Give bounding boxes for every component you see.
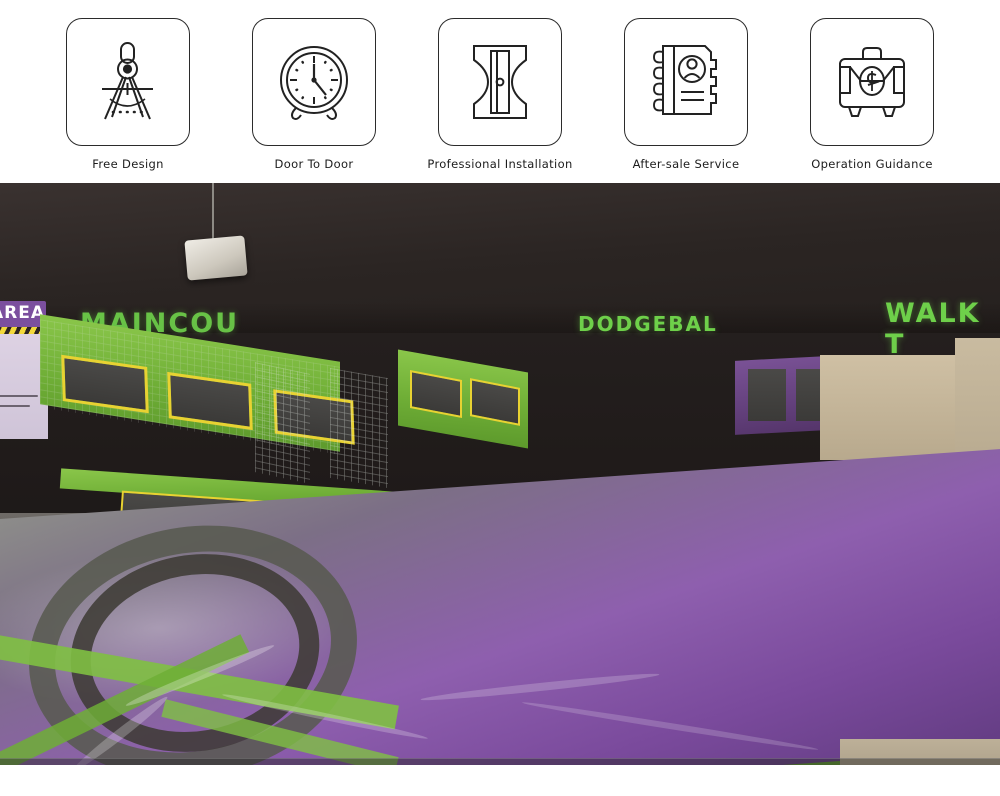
feature-item-professional-installation[interactable]: Professional Installation <box>428 18 572 171</box>
compass-icon <box>90 39 166 125</box>
ceiling-projector <box>184 235 247 280</box>
feature-label: After-sale Service <box>633 157 740 171</box>
feature-icon-frame <box>624 18 748 146</box>
title-band: ADULTS TRAMPOLINIE SPORTS PARK <box>0 758 1000 765</box>
contact-book-icon <box>647 39 725 125</box>
feature-item-after-sale-service[interactable]: After-sale Service <box>614 18 758 171</box>
feature-label: Free Design <box>92 157 164 171</box>
trampoline-park-photo: MAINCOU DODGEBAL WALK T ÁREA <box>0 183 1000 765</box>
safety-net <box>255 362 310 484</box>
info-board-line <box>0 395 38 397</box>
feature-item-free-design[interactable]: Free Design <box>56 18 200 171</box>
feature-label: Operation Guidance <box>811 157 933 171</box>
alarm-clock-icon <box>273 40 355 124</box>
feature-icon-frame <box>252 18 376 146</box>
feature-item-door-to-door[interactable]: Door To Door <box>242 18 386 171</box>
pencil-sharpener-icon <box>464 40 536 124</box>
feature-label: Door To Door <box>275 157 354 171</box>
wall-trampoline <box>748 369 786 421</box>
feature-item-operation-guidance[interactable]: Operation Guidance <box>800 18 944 171</box>
info-board-line <box>0 405 30 407</box>
safety-net <box>330 368 388 488</box>
wall-sign-dodgeball: DODGEBAL <box>578 312 718 336</box>
projector-rod <box>212 183 214 241</box>
feature-icon-frame <box>438 18 562 146</box>
wall-sign-area: ÁREA <box>0 303 45 323</box>
feature-strip: Free Design <box>0 0 1000 183</box>
feature-icon-frame <box>66 18 190 146</box>
feature-label: Professional Installation <box>427 157 572 171</box>
bottom-white-strip <box>0 765 1000 796</box>
feature-icon-frame <box>810 18 934 146</box>
briefcase-dollar-icon <box>830 41 914 123</box>
promo-banner-page: Free Design <box>0 0 1000 796</box>
